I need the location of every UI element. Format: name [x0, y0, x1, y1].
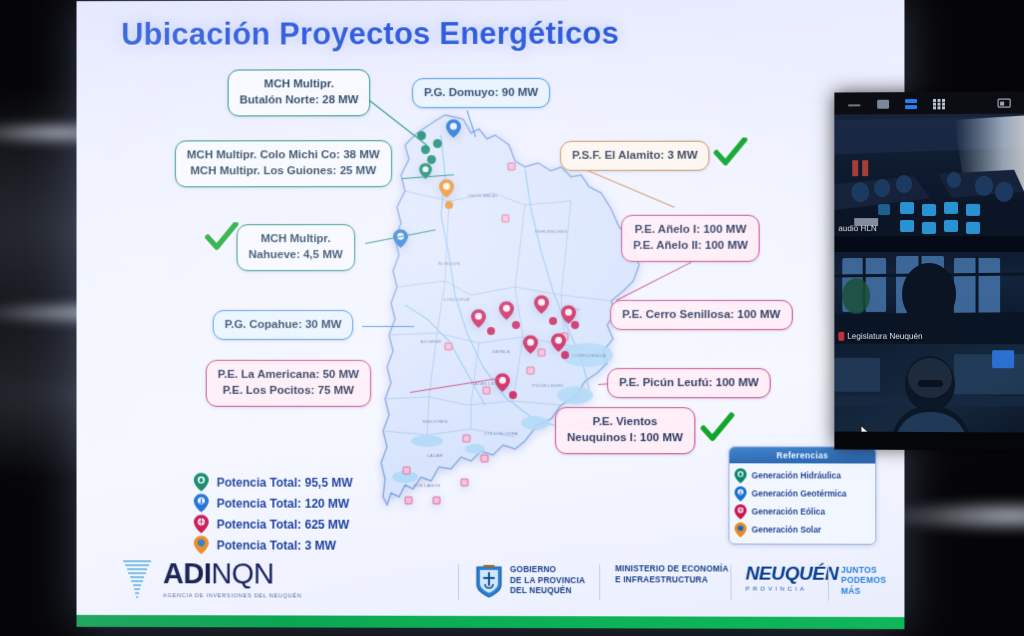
map-dot-eolica — [549, 317, 557, 325]
map-dot-hidraulica — [427, 155, 436, 164]
grid-view-icon[interactable] — [932, 97, 946, 115]
callout-line: P.E. La Americana: 50 MW — [218, 367, 359, 383]
gobierno-block: GOBIERNO DE LA PROVINCIA DEL NEUQUÉN — [475, 564, 585, 598]
neuquen-coat-of-arms-icon — [475, 564, 503, 598]
references-title: Referencias — [729, 447, 875, 463]
total-row: Potencia Total: 120 MW — [194, 493, 353, 514]
map-pin-geotermica — [446, 119, 461, 138]
totals-legend: Potencia Total: 95,5 MW Potencia Total: … — [194, 472, 353, 556]
gobierno-line: GOBIERNO — [510, 565, 585, 576]
footer-divider — [828, 565, 829, 601]
reference-row: Generación Hidráulica — [735, 466, 871, 484]
map-dot-eolica — [487, 327, 495, 335]
pin-geotermica-icon — [194, 494, 209, 513]
callout-mch-colo-michi-los-guiones[interactable]: MCH Multipr. Colo Michi Co: 38 MW MCH Mu… — [175, 140, 392, 187]
adinqn-tagline: AGENCIA DE INVERSIONES DEL NEUQUÉN — [163, 593, 302, 599]
callout-pe-la-americana-los-pocitos[interactable]: P.E. La Americana: 50 MW P.E. Los Pocito… — [206, 360, 371, 407]
check-icon — [700, 412, 734, 444]
neuquen-wordmark: NEUQUÉN — [746, 565, 839, 584]
callout-line: P.E. Añelo I: 100 MW — [633, 222, 748, 238]
map-department-label: CONFLUENCIA — [572, 353, 606, 358]
juntos-line: PODEMOS — [841, 575, 886, 585]
videoconference-panel: audio HLN — [834, 91, 1024, 448]
gobierno-line: DE LA PROVINCIA — [510, 576, 585, 587]
map-dot-hidraulica — [433, 139, 442, 148]
map-department-label: ZAPALA — [492, 349, 510, 354]
map-department-label: ALUMINÉ — [421, 339, 442, 344]
vc-tile-audio-hln[interactable]: audio HLN — [834, 114, 1024, 237]
vc-tile-legislatura-neuquen[interactable]: Legislatura Neuquén — [834, 236, 1024, 344]
ministerio-line: MINISTERIO DE ECONOMÍA — [615, 564, 728, 575]
footer-divider — [730, 565, 731, 601]
map-dot-eolica — [509, 391, 517, 399]
screen: Ubicación Proyectos Energéticos — [0, 0, 1024, 636]
callout-line: P.E. Los Pocitos: 75 MW — [218, 383, 359, 399]
map-pin-eolica — [551, 333, 566, 352]
map-pin-eolica — [495, 373, 510, 392]
callout-pg-copahue[interactable]: P.G. Copahue: 30 MW — [213, 310, 354, 340]
minimize-icon[interactable] — [847, 97, 861, 115]
callout-line: Neuquinos I: 100 MW — [567, 430, 683, 446]
map-dot-solar — [445, 201, 453, 209]
adinqn-wordmark: ADINQN — [163, 560, 302, 589]
vc-tile-name: audio HLN — [838, 224, 876, 233]
reference-label: Generación Geotérmica — [752, 488, 847, 498]
map-department-label: LONCOPUÉ — [444, 297, 470, 302]
map-department-label: CHOS MALAL — [468, 193, 499, 198]
juntos-line: MÁS — [841, 585, 886, 595]
total-row: Potencia Total: 95,5 MW — [194, 472, 353, 493]
references-box: Referencias Generación Hidráulica Genera… — [728, 446, 876, 545]
total-label: Potencia Total: 95,5 MW — [217, 475, 353, 489]
callout-line: P.E. Añelo II: 100 MW — [633, 238, 748, 254]
map-department-label: ÑORQUÍN — [438, 261, 460, 266]
callout-line: P.E. Cerro Senillosa: 100 MW — [622, 307, 780, 323]
vc-tile-video — [834, 236, 1024, 344]
single-view-icon[interactable] — [876, 97, 890, 115]
presentation-slide: Ubicación Proyectos Energéticos — [77, 0, 905, 629]
callout-pe-anelo[interactable]: P.E. Añelo I: 100 MW P.E. Añelo II: 100 … — [621, 215, 760, 262]
pin-geotermica-icon — [735, 486, 747, 501]
vc-tile-label: audio HLN — [838, 224, 876, 233]
vc-tile-video — [834, 114, 1024, 237]
map-dot-eolica — [561, 351, 569, 359]
vc-tile-name: Legislatura Neuquén — [838, 332, 922, 341]
callout-line: MCH Multipr. — [240, 76, 359, 93]
callout-line: P.G. Domuyo: 90 MW — [424, 85, 538, 102]
total-row: Potencia Total: 625 MW — [194, 513, 353, 534]
total-label: Potencia Total: 625 MW — [217, 517, 350, 531]
map-dot-eolica — [571, 321, 579, 329]
mic-muted-icon — [838, 332, 844, 341]
callout-psf-el-alamito[interactable]: P.S.F. El Alamito: 3 MW — [560, 141, 710, 172]
callout-pe-picun-leufu[interactable]: P.E. Picún Leufú: 100 MW — [607, 368, 771, 398]
reference-row: Generación Solar — [735, 520, 871, 538]
callout-line: MCH Multipr. Colo Michi Co: 38 MW — [187, 147, 380, 164]
reference-label: Generación Eólica — [752, 506, 825, 516]
vc-tile-label: Legislatura Neuquén — [847, 332, 922, 341]
pin-hidraulica-icon — [194, 473, 209, 492]
map-department-label: PICÚN LEUFÚ — [532, 383, 563, 388]
map-dot-hidraulica — [421, 145, 430, 154]
provincia-subtext: PROVINCIA — [746, 586, 839, 593]
callout-line: P.E. Vientos — [567, 414, 683, 430]
map-dot-eolica — [512, 321, 520, 329]
vc-layout-toolbar[interactable] — [834, 91, 1024, 114]
reference-row: Generación Geotérmica — [735, 484, 871, 502]
slide-footer: ADINQN AGENCIA DE INVERSIONES DEL NEUQUÉ… — [77, 551, 905, 617]
callout-line: MCH Multipr. — [249, 231, 343, 247]
pin-hidraulica-icon — [735, 468, 747, 483]
map-pin-eolica — [471, 309, 486, 328]
reference-row: Generación Eólica — [735, 502, 871, 520]
footer-divider — [458, 564, 459, 600]
neuquen-provincia-block: NEUQUÉN PROVINCIA — [746, 565, 839, 593]
juntos-podemos-mas-block: JUNTOS PODEMOS MÁS — [841, 565, 886, 596]
panel-edge — [834, 432, 1024, 451]
map-department-label: LOS LAGOS — [414, 483, 441, 488]
pin-solar-icon — [735, 522, 747, 537]
footer-divider — [599, 564, 600, 600]
leader-line — [362, 326, 414, 327]
adinqn-bold-part: ADI — [163, 558, 211, 590]
reference-label: Generación Hidráulica — [752, 470, 841, 480]
callout-line: Nahueve: 4,5 MW — [249, 247, 343, 263]
callout-mch-butalon-norte[interactable]: MCH Multipr. Butalón Norte: 28 MW — [228, 69, 371, 116]
map-department-label: PEHUENCHES — [535, 229, 567, 234]
callout-line: Butalón Norte: 28 MW — [240, 93, 359, 110]
total-label: Potencia Total: 120 MW — [217, 496, 350, 510]
map-pin-eolica — [523, 335, 538, 354]
gobierno-line: DEL NEUQUÉN — [510, 586, 585, 597]
callout-leader-lines — [77, 0, 905, 1]
reference-label: Generación Solar — [752, 524, 822, 534]
split-view-icon[interactable] — [904, 97, 918, 115]
callout-line: P.S.F. El Alamito: 3 MW — [572, 148, 698, 165]
adinqn-logo: ADINQN AGENCIA DE INVERSIONES DEL NEUQUÉ… — [121, 557, 302, 601]
map-pin-geotermica — [393, 229, 408, 248]
adinqn-triangle-icon — [121, 557, 159, 601]
map-department-label: HUILICHES — [422, 419, 447, 424]
map-pin-solar — [439, 179, 454, 198]
total-label: Potencia Total: 3 MW — [217, 538, 336, 552]
check-icon — [205, 222, 239, 252]
callout-pe-cerro-senillosa[interactable]: P.E. Cerro Senillosa: 100 MW — [610, 300, 792, 330]
pin-eolica-icon — [735, 504, 747, 519]
ministerio-line: E INFRAESTRUCTURA — [615, 575, 728, 586]
map-department-label: COLLÓN CURÁ — [484, 431, 518, 436]
callout-line: P.G. Copahue: 30 MW — [225, 317, 342, 333]
callout-pg-domuyo[interactable]: P.G. Domuyo: 90 MW — [412, 78, 550, 109]
callout-pe-vientos-neuquinos[interactable]: P.E. Vientos Neuquinos I: 100 MW — [555, 407, 695, 454]
adinqn-thin-part: NQN — [211, 558, 274, 590]
share-screen-icon[interactable] — [997, 97, 1011, 115]
map-department-label: LÁCAR — [427, 453, 443, 458]
callout-line: P.E. Picún Leufú: 100 MW — [619, 375, 759, 391]
check-icon — [713, 138, 747, 168]
slide-bottom-bar — [77, 615, 905, 629]
map-pin-eolica — [499, 301, 514, 320]
map-pin-eolica — [534, 295, 549, 314]
ministerio-block: MINISTERIO DE ECONOMÍA E INFRAESTRUCTURA — [615, 564, 728, 586]
juntos-line: JUNTOS — [841, 565, 886, 575]
pin-eolica-icon — [194, 514, 209, 533]
callout-mch-nahueve[interactable]: MCH Multipr. Nahueve: 4,5 MW — [237, 224, 355, 271]
callout-line: MCH Multipr. Los Guiones: 25 MW — [187, 163, 380, 180]
page-title: Ubicación Proyectos Energéticos — [121, 16, 619, 53]
